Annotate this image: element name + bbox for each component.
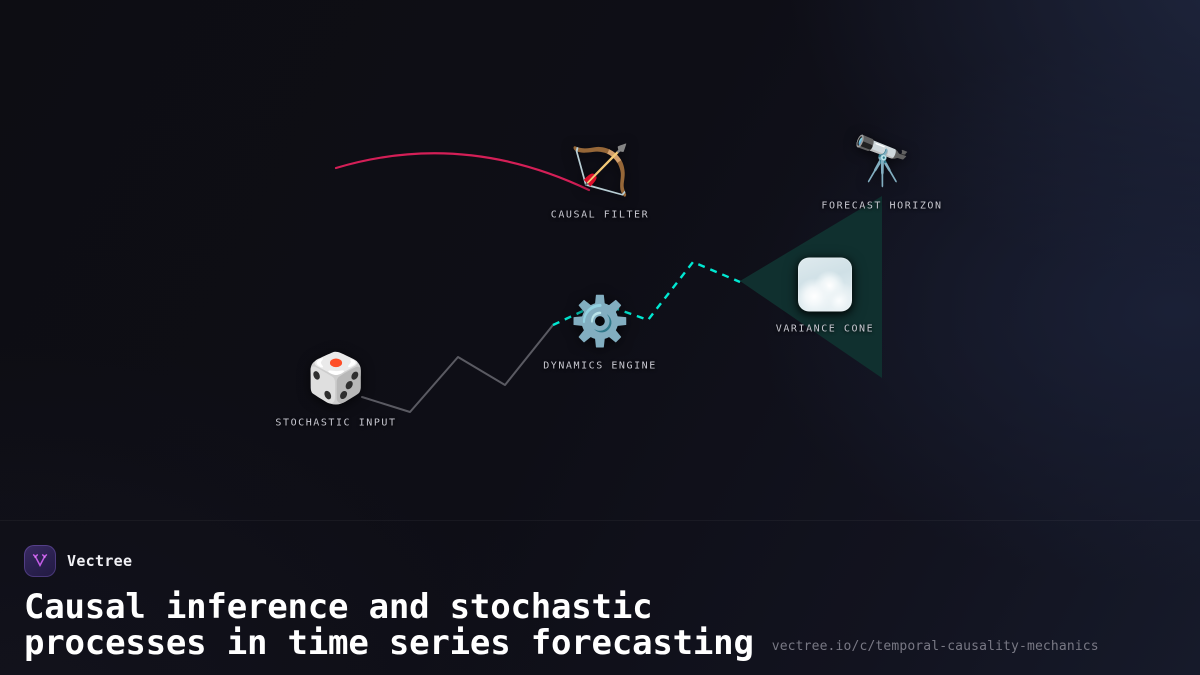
vectree-branch-logo-icon (24, 545, 56, 577)
diagram-stage: 🎲 STOCHASTIC INPUT ⚙️ DYNAMICS ENGINE 🏹 … (0, 0, 1200, 520)
headline-row: Causal inference and stochastic processe… (24, 589, 1176, 661)
node-label-forecast-horizon: FORECAST HORIZON (821, 201, 942, 212)
cloud-icon (798, 258, 852, 312)
telescope-icon: 🔭 (852, 135, 912, 189)
game-die-icon: 🎲 (306, 352, 366, 406)
diagram-node-variance-cone[interactable]: VARIANCE CONE (725, 258, 925, 335)
node-label-dynamics-engine: DYNAMICS ENGINE (543, 361, 657, 372)
node-label-variance-cone: VARIANCE CONE (776, 324, 874, 335)
brand-name: Vectree (67, 552, 132, 570)
diagram-node-causal-filter[interactable]: 🏹 CAUSAL FILTER (500, 144, 700, 221)
diagram-node-dynamics-engine[interactable]: ⚙️ DYNAMICS ENGINE (500, 295, 700, 372)
page-title: Causal inference and stochastic processe… (24, 589, 754, 661)
screenshot-canvas: 🎲 STOCHASTIC INPUT ⚙️ DYNAMICS ENGINE 🏹 … (0, 0, 1200, 675)
diagram-node-stochastic-input[interactable]: 🎲 STOCHASTIC INPUT (236, 352, 436, 429)
node-label-stochastic-input: STOCHASTIC INPUT (275, 418, 396, 429)
brand-row[interactable]: Vectree (24, 545, 1176, 577)
diagram-node-forecast-horizon[interactable]: 🔭 FORECAST HORIZON (782, 135, 982, 212)
diagram-vector-layer (0, 0, 1200, 520)
bow-and-arrow-icon: 🏹 (570, 144, 630, 198)
gear-icon: ⚙️ (570, 295, 630, 349)
node-label-causal-filter: CAUSAL FILTER (551, 210, 649, 221)
footer-bar: Vectree Causal inference and stochastic … (0, 520, 1200, 675)
source-url: vectree.io/c/temporal-causality-mechanic… (772, 639, 1099, 661)
